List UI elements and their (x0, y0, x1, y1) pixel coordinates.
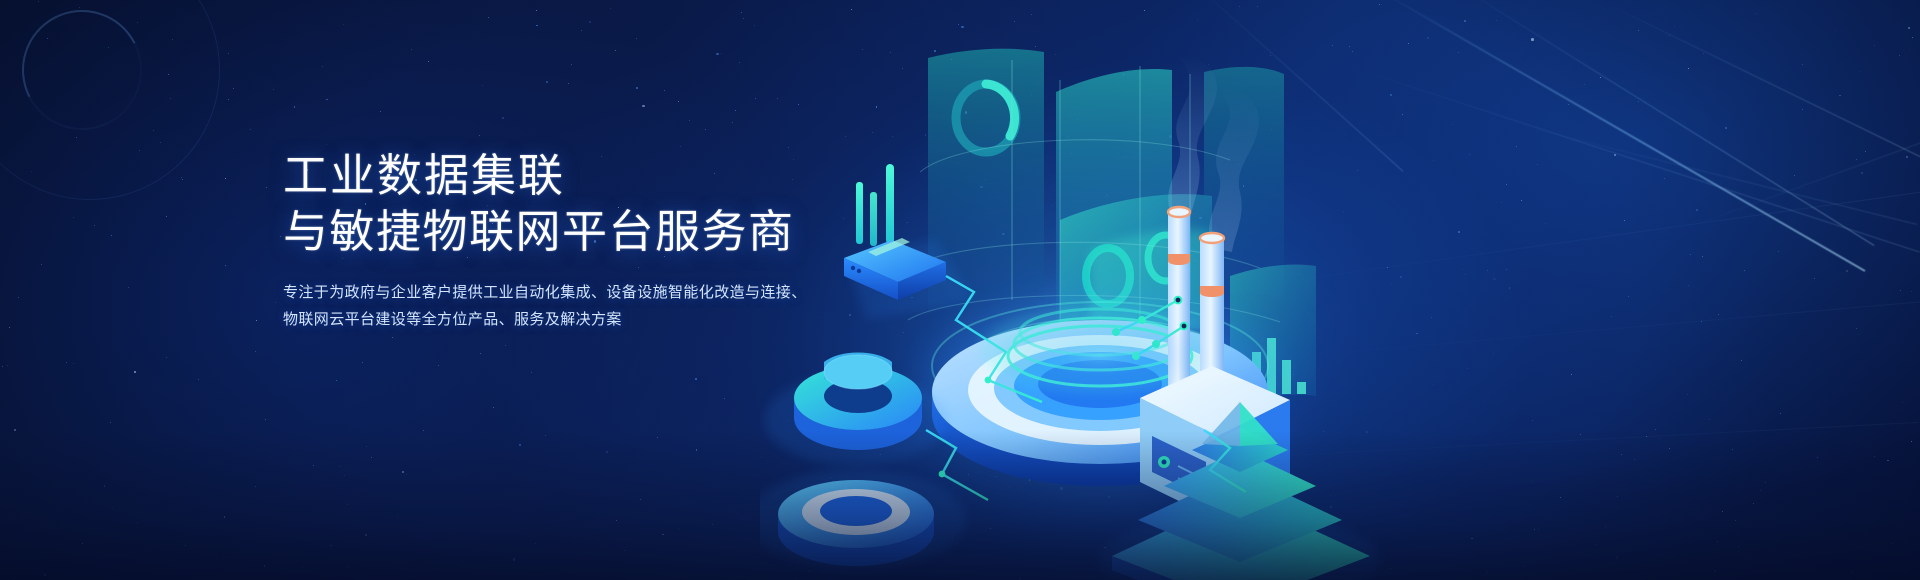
vignette-overlay (0, 0, 1920, 580)
hero-banner: 工业数据集联 与敏捷物联网平台服务商 专注于为政府与企业客户提供工业自动化集成、… (0, 0, 1920, 580)
